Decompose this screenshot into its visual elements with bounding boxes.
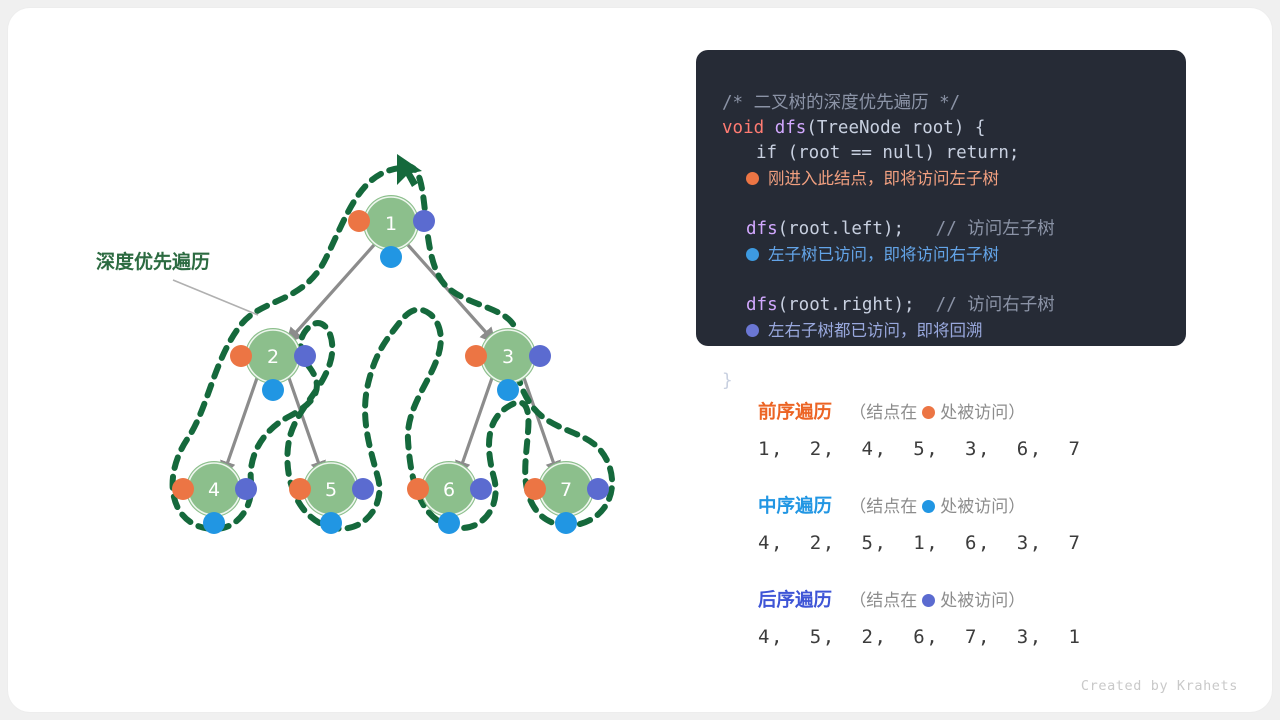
traversal-postorder-name: 后序遍历 — [758, 590, 832, 611]
marker-pre-icon — [922, 406, 935, 419]
marker-in-4 — [203, 512, 225, 534]
marker-in-3 — [497, 379, 519, 401]
tree-node-7[interactable]: 7 — [524, 461, 609, 534]
watermark-credit: Created by Krahets — [1081, 678, 1238, 694]
code-fn-dfs-left: dfs — [722, 219, 778, 239]
tree-node-4[interactable]: 4 — [172, 461, 257, 534]
slide-card: 深度优先遍历 1 2 — [8, 8, 1272, 712]
marker-pre-2 — [230, 345, 252, 367]
annotation-preorder: 刚进入此结点，即将访问左子树 — [722, 166, 1186, 192]
traversal-preorder-heading: 前序遍历 （结点在处被访问） — [758, 398, 1081, 424]
traversal-postorder-sequence: 4, 5, 2, 6, 7, 3, 1 — [758, 626, 1081, 648]
tree-node-3[interactable]: 3 — [465, 328, 551, 401]
marker-pre-4 — [172, 478, 194, 500]
dfs-title-label: 深度优先遍历 — [96, 250, 210, 273]
marker-post-7 — [587, 478, 609, 500]
code-close-brace: } — [722, 371, 733, 391]
code-fn-dfs-right: dfs — [722, 295, 778, 315]
code-signature-rest: (TreeNode root) { — [806, 118, 985, 138]
marker-post-6 — [470, 478, 492, 500]
traversal-inorder-note-prefix: （结点在 — [849, 497, 917, 517]
traversal-inorder-heading: 中序遍历 （结点在处被访问） — [758, 492, 1081, 518]
marker-in-7 — [555, 512, 577, 534]
traversal-postorder-note-prefix: （结点在 — [849, 591, 917, 611]
traversal-inorder-sequence: 4, 2, 5, 1, 6, 3, 7 — [758, 532, 1081, 554]
node-label-3: 3 — [502, 346, 514, 368]
marker-pre-1 — [348, 210, 370, 232]
marker-in-5 — [320, 512, 342, 534]
code-left-comment: // 访问左子树 — [936, 219, 1055, 239]
tree-nodes: 1 2 3 — [172, 195, 609, 534]
code-left-rest: (root.left); — [778, 219, 904, 239]
traversal-postorder: 后序遍历 （结点在处被访问） 4, 5, 2, 6, 7, 3, 1 — [758, 586, 1081, 648]
code-right-rest: (root.right); — [778, 295, 915, 315]
marker-in-2 — [262, 379, 284, 401]
node-label-6: 6 — [443, 479, 455, 501]
code-block: /* 二叉树的深度优先遍历 */ void dfs(TreeNode root)… — [696, 50, 1186, 346]
marker-post-icon — [922, 594, 935, 607]
marker-in-icon — [922, 500, 935, 513]
traversal-preorder-name: 前序遍历 — [758, 402, 832, 423]
annotation-postorder: 左右子树都已访问，即将回溯 — [722, 318, 1186, 344]
binary-tree-diagram: 深度优先遍历 1 2 — [8, 8, 698, 712]
node-label-4: 4 — [208, 479, 220, 501]
marker-pre-icon — [746, 172, 759, 185]
traversal-postorder-note-suffix: 处被访问） — [940, 591, 1025, 611]
tree-node-6[interactable]: 6 — [407, 461, 492, 534]
marker-post-icon — [746, 324, 759, 337]
code-right-comment: // 访问右子树 — [936, 295, 1055, 315]
marker-in-icon — [746, 248, 759, 261]
annotation-inorder: 左子树已访问，即将访问右子树 — [722, 242, 1186, 268]
code-guard-line: if (root == null) return; — [722, 143, 1019, 163]
marker-post-5 — [352, 478, 374, 500]
traversal-inorder: 中序遍历 （结点在处被访问） 4, 2, 5, 1, 6, 3, 7 — [758, 492, 1081, 554]
marker-pre-6 — [407, 478, 429, 500]
traversal-preorder: 前序遍历 （结点在处被访问） 1, 2, 4, 5, 3, 6, 7 — [758, 398, 1081, 460]
traversal-postorder-heading: 后序遍历 （结点在处被访问） — [758, 586, 1081, 612]
node-label-5: 5 — [325, 479, 337, 501]
marker-post-4 — [235, 478, 257, 500]
traversal-inorder-name: 中序遍历 — [758, 496, 832, 517]
marker-post-2 — [294, 345, 316, 367]
marker-in-1 — [380, 246, 402, 268]
node-label-1: 1 — [385, 213, 397, 235]
marker-in-6 — [438, 512, 460, 534]
marker-pre-3 — [465, 345, 487, 367]
callout-leader-line — [173, 280, 258, 315]
traversal-preorder-note-suffix: 处被访问） — [940, 403, 1025, 423]
code-comment-title: /* 二叉树的深度优先遍历 */ — [722, 93, 960, 113]
code-fn-dfs: dfs — [775, 118, 807, 138]
code-keyword-void: void — [722, 118, 764, 138]
marker-post-1 — [413, 210, 435, 232]
traversal-preorder-sequence: 1, 2, 4, 5, 3, 6, 7 — [758, 438, 1081, 460]
marker-pre-5 — [289, 478, 311, 500]
traversal-preorder-note-prefix: （结点在 — [849, 403, 917, 423]
marker-post-3 — [529, 345, 551, 367]
node-label-7: 7 — [560, 479, 572, 501]
traversal-inorder-note-suffix: 处被访问） — [940, 497, 1025, 517]
marker-pre-7 — [524, 478, 546, 500]
node-label-2: 2 — [267, 346, 279, 368]
